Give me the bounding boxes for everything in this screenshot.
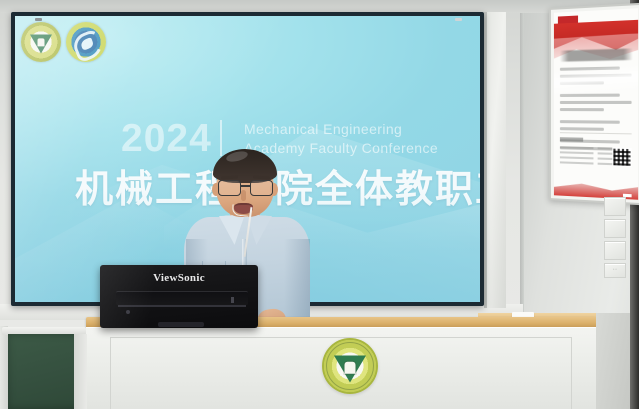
screen-top-right-sensor-icon [455,18,462,21]
monitor-port-icon [231,297,234,303]
chalkboard-right-gap [74,334,87,409]
poster-text-line [560,127,604,131]
qr-code-icon [612,148,631,167]
chalkboard-left-post [0,326,8,409]
glasses-lens-right [250,180,273,196]
poster-title-text [560,49,632,62]
poster-text-line [560,100,632,103]
viewsonic-monitor[interactable]: ViewSonic [100,265,258,328]
light-switch-2[interactable] [604,219,626,238]
wall-switch-panel[interactable]: • • [604,197,624,273]
monitor-stand [158,322,204,327]
southeast-university-emblem-icon [21,22,61,62]
podium-emblem-ring [326,342,374,390]
monitor-power-led-icon [126,310,130,314]
monitor-seam [118,305,246,307]
poster-text-line [560,93,620,96]
monitor-vent [116,291,248,305]
poster-footer-cell [560,161,593,164]
glasses-bridge [240,185,251,187]
glasses-lens-left [218,180,241,196]
poster-corner-tag [558,16,578,24]
power-outlet-label: • • [605,264,625,271]
slide-english-title-line1: Mechanical Engineering [244,120,438,139]
screen-top-left-sensor-icon [35,18,42,21]
light-switch-3[interactable] [604,241,626,260]
poster-footer-cell [560,156,593,159]
podium-side-panel [596,313,630,409]
poster-text-line [560,81,604,85]
poster-footer-cell [560,151,593,154]
poster-text-line [560,73,632,77]
podium-university-emblem-icon [322,338,378,394]
monitor-brand-label: ViewSonic [100,272,258,284]
wall-pillar-edge [484,12,487,308]
light-switch-1[interactable] [604,197,626,216]
poster-content [554,8,638,200]
poster-text-line [560,66,620,70]
slide-logo-row [21,22,106,62]
poster-text-line [560,108,604,111]
speaker-nose [241,190,246,201]
poster-text-line [560,120,620,124]
power-outlet[interactable]: • • [604,263,626,278]
safety-notice-poster[interactable] [549,3,639,206]
poster-footer-cell [560,146,593,149]
mechanical-engineering-school-emblem-icon [66,22,106,62]
poster-footer-heading [560,137,584,142]
conference-room-scene: 2024 Mechanical Engineering Academy Facu… [0,0,639,409]
wall-pillar [486,12,506,308]
